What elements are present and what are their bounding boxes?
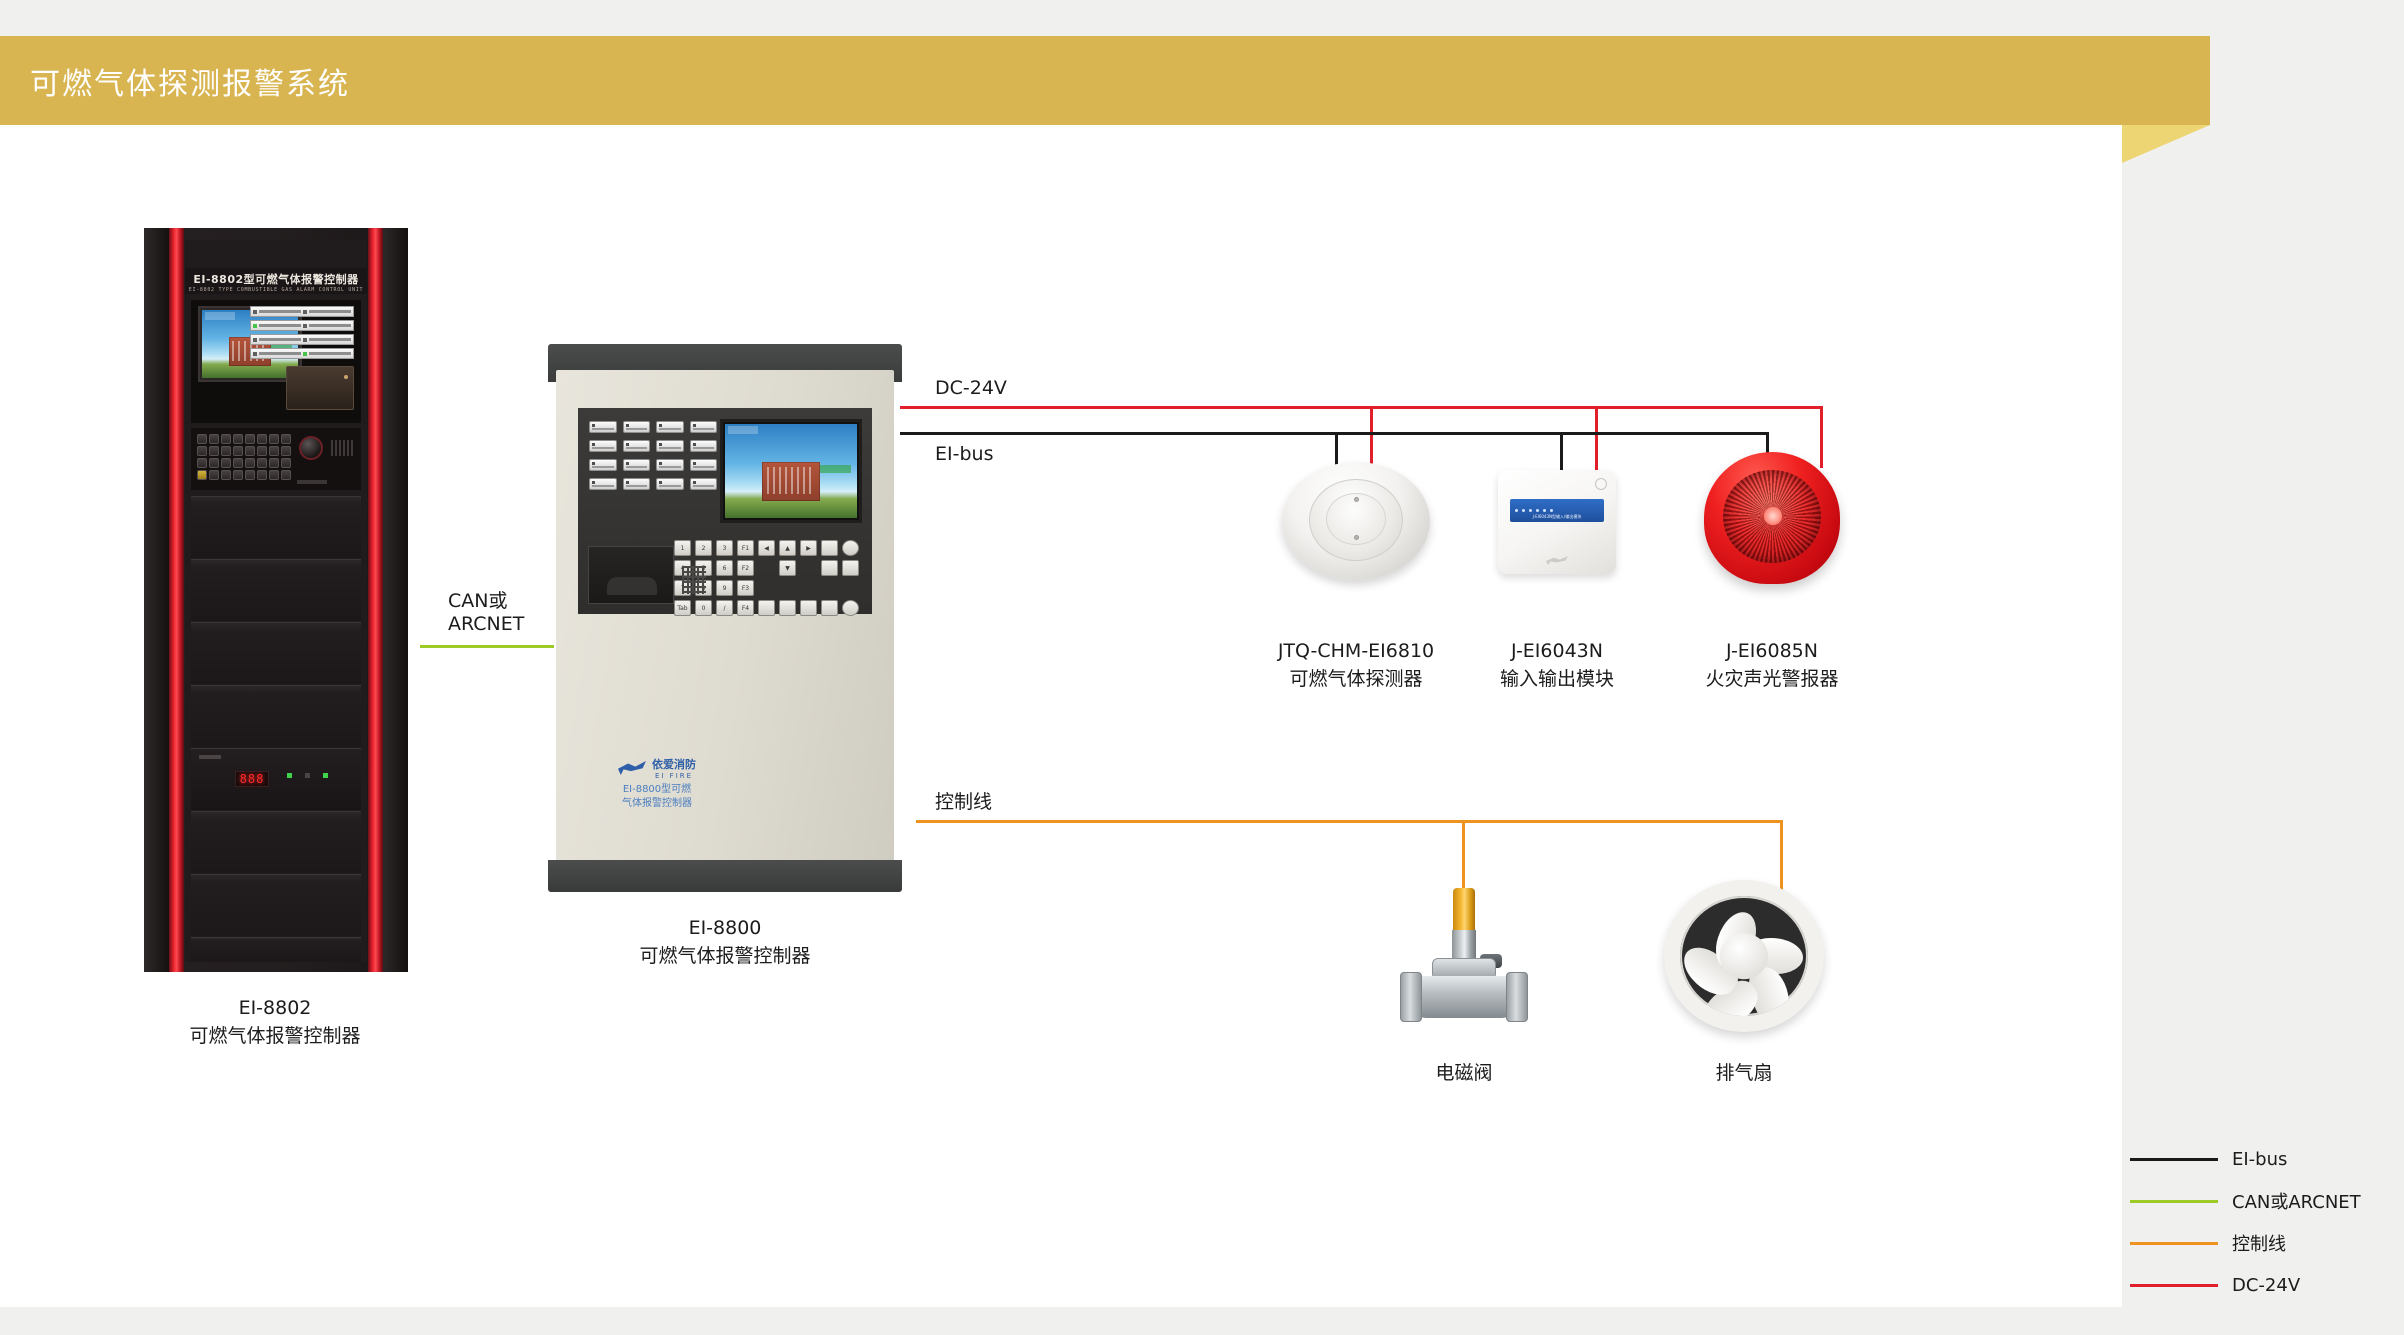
valve-caption: 电磁阀 <box>1314 1060 1614 1088</box>
cabinet-led-bank <box>250 306 354 362</box>
panel-key-func[interactable] <box>821 560 838 576</box>
cabinet-key[interactable] <box>197 458 207 468</box>
cabinet-key[interactable] <box>281 446 291 456</box>
panel-key-func[interactable] <box>800 600 817 616</box>
cabinet-header-cn: EI-8802型可燃气体报警控制器 <box>185 271 367 287</box>
label-can-line1: CAN或 <box>448 586 507 613</box>
legend-label-control: 控制线 <box>2232 1230 2286 1256</box>
led-dot <box>303 324 307 328</box>
led-label <box>309 310 351 313</box>
power-indicator <box>287 773 292 778</box>
ei8802-cabinet: EI-8802型可燃气体报警控制器 EI-8802 TYPE COMBUSTIB… <box>144 228 408 972</box>
led-row <box>250 306 354 317</box>
lcd-logo <box>205 312 235 320</box>
gas-detector-device <box>1282 462 1430 580</box>
panel-key[interactable]: Tab <box>674 600 691 616</box>
panel-key-func[interactable] <box>821 540 838 556</box>
led-label <box>259 310 301 313</box>
cabinet-key[interactable] <box>269 458 279 468</box>
module-led <box>1529 509 1532 512</box>
wire-control-drop-valve <box>1462 820 1465 892</box>
panel-key[interactable]: 2 <box>695 540 712 556</box>
legend-swatch-dc24v <box>2130 1284 2218 1287</box>
module-led <box>1550 509 1553 512</box>
cabinet-sub-display <box>286 366 354 410</box>
cabinet-power-module: 888 <box>191 748 361 810</box>
led-label <box>309 324 351 327</box>
cabinet-key[interactable] <box>245 470 255 480</box>
cabinet-key[interactable] <box>257 458 267 468</box>
cabinet-key[interactable] <box>281 458 291 468</box>
panel-key[interactable]: 0 <box>695 600 712 616</box>
led-row <box>250 320 354 331</box>
panel-led <box>589 440 617 452</box>
cabinet-key[interactable] <box>257 446 267 456</box>
label-eibus: EI-bus <box>935 443 993 465</box>
panel-model-line1: EI-8800型可燃 <box>592 783 722 797</box>
panel-printer[interactable] <box>588 546 674 604</box>
cabinet-slot <box>191 622 361 684</box>
cabinet-slot <box>191 496 361 558</box>
cabinet-key[interactable] <box>269 434 279 444</box>
title-banner: 可燃气体探测报警系统 <box>0 36 2210 125</box>
cabinet-caption-model: EI-8802 <box>110 995 440 1023</box>
panel-key-left[interactable]: ◀ <box>758 540 775 556</box>
cabinet-slot <box>191 559 361 621</box>
panel-led <box>623 478 651 490</box>
legend-label-eibus: EI-bus <box>2232 1149 2287 1170</box>
cabinet-rail-left <box>169 228 184 972</box>
cabinet-key[interactable] <box>197 434 207 444</box>
valve-flange-right <box>1506 972 1528 1022</box>
wire-can-arcnet <box>420 645 554 648</box>
panel-led <box>690 459 718 471</box>
banner-fold-decoration <box>2122 125 2210 163</box>
panel-key[interactable]: / <box>716 600 733 616</box>
panel-key-power[interactable] <box>842 540 859 556</box>
panel-key-func[interactable] <box>842 560 859 576</box>
led-row <box>250 334 354 345</box>
cabinet-key[interactable] <box>197 446 207 456</box>
valve-body <box>1410 976 1518 1018</box>
cabinet-key[interactable] <box>257 470 267 480</box>
valve-coil <box>1453 888 1475 934</box>
sounder-model: J-EI6085N <box>1622 638 1922 666</box>
cabinet-slot <box>191 937 361 962</box>
led-label <box>259 352 301 355</box>
sounder-led-core <box>1764 507 1782 524</box>
cabinet-key[interactable] <box>233 458 243 468</box>
panel-key[interactable]: 3 <box>716 540 733 556</box>
page-title: 可燃气体探测报警系统 <box>30 59 350 103</box>
cabinet-key[interactable] <box>245 446 255 456</box>
module-led <box>1543 509 1546 512</box>
cabinet-side-left <box>144 228 170 972</box>
led-dot <box>303 352 307 356</box>
panel-led <box>656 459 684 471</box>
power-module-tag <box>199 755 221 759</box>
panel-led <box>690 421 718 433</box>
cabinet-key[interactable] <box>209 458 219 468</box>
power-indicator <box>323 773 328 778</box>
panel-bottom-bezel <box>548 860 902 892</box>
module-strip-text: J-EI6043N型输入/输出模块 <box>1510 514 1604 520</box>
panel-lcd-logo <box>728 426 758 434</box>
panel-key[interactable]: F4 <box>737 600 754 616</box>
panel-key-down[interactable]: ▼ <box>779 560 796 576</box>
panel-lcd-image <box>725 424 857 518</box>
wire-dc24v-drop-module <box>1595 406 1598 476</box>
panel-key-func[interactable] <box>821 600 838 616</box>
cabinet-caption: EI-8802 可燃气体报警控制器 <box>110 995 440 1050</box>
cabinet-key[interactable] <box>209 434 219 444</box>
cabinet-front-face: EI-8802型可燃气体报警控制器 EI-8802 TYPE COMBUSTIB… <box>185 240 367 962</box>
ccc-certification-icon <box>1595 478 1607 490</box>
panel-led <box>690 478 718 490</box>
legend-label-can: CAN或ARCNET <box>2232 1188 2361 1214</box>
panel-key-reset[interactable] <box>842 600 859 616</box>
cabinet-keypad-area[interactable] <box>191 428 361 490</box>
solenoid-valve-device <box>1400 888 1528 1020</box>
fan-caption: 排气扇 <box>1594 1060 1894 1088</box>
cabinet-key[interactable] <box>233 470 243 480</box>
wire-dc24v-trunk <box>900 406 1822 409</box>
panel-front-face: 1 2 3 F1 ◀ ▲ ▶ 4 5 6 F2 ▼ <box>578 408 872 614</box>
panel-model-line2: 气体报警控制器 <box>592 797 722 811</box>
panel-key[interactable]: F1 <box>737 540 754 556</box>
label-dc24v: DC-24V <box>935 377 1007 399</box>
legend-swatch-can <box>2130 1200 2218 1203</box>
cabinet-header-en: EI-8802 TYPE COMBUSTIBLE GAS ALARM CONTR… <box>185 287 367 293</box>
panel-brand-en: EI FIRE <box>652 772 696 780</box>
panel-led <box>623 421 651 433</box>
panel-key-up[interactable]: ▲ <box>779 540 796 556</box>
cabinet-key[interactable] <box>233 446 243 456</box>
cabinet-key[interactable] <box>281 434 291 444</box>
cabinet-header-plate: EI-8802型可燃气体报警控制器 EI-8802 TYPE COMBUSTIB… <box>185 268 367 294</box>
sounder-name: 火灾声光警报器 <box>1622 666 1922 694</box>
led-label <box>309 338 351 341</box>
legend-swatch-eibus <box>2130 1158 2218 1161</box>
cabinet-key[interactable] <box>221 446 231 456</box>
panel-key-func[interactable] <box>758 600 775 616</box>
led-dot <box>303 338 307 342</box>
cabinet-key[interactable] <box>221 458 231 468</box>
panel-lcd-building <box>762 462 820 501</box>
panel-led <box>690 440 718 452</box>
cabinet-slot <box>191 874 361 936</box>
legend: EI-bus CAN或ARCNET 控制线 DC-24V <box>2130 1138 2380 1306</box>
panel-key[interactable]: 6 <box>716 560 733 576</box>
panel-led-row <box>589 459 717 471</box>
panel-lcd-green-text <box>817 465 851 473</box>
panel-led <box>656 421 684 433</box>
panel-caption-model: EI-8800 <box>560 915 890 943</box>
cabinet-key[interactable] <box>209 470 219 480</box>
cabinet-side-right <box>382 228 408 972</box>
legend-swatch-control <box>2130 1242 2218 1245</box>
cabinet-key[interactable] <box>209 446 219 456</box>
module-led <box>1515 509 1518 512</box>
panel-caption-name: 可燃气体报警控制器 <box>560 943 890 971</box>
ei-fire-logo-icon <box>1546 556 1568 565</box>
panel-led <box>589 459 617 471</box>
panel-led <box>623 440 651 452</box>
label-control-line: 控制线 <box>935 787 992 814</box>
panel-branding: 依爱消防 EI FIRE EI-8800型可燃 气体报警控制器 <box>592 756 722 810</box>
module-led <box>1536 509 1539 512</box>
panel-led <box>656 478 684 490</box>
top-gray-strip <box>0 0 2404 36</box>
module-led <box>1522 509 1525 512</box>
voltage-display: 888 <box>235 771 269 787</box>
exhaust-fan-device <box>1664 880 1824 1032</box>
panel-brand-row: 依爱消防 EI FIRE <box>592 756 722 780</box>
valve-flange-left <box>1400 972 1422 1022</box>
panel-led <box>589 478 617 490</box>
panel-key[interactable]: F3 <box>737 580 754 596</box>
cabinet-rotary-knob[interactable] <box>299 436 323 460</box>
cabinet-caption-name: 可燃气体报警控制器 <box>110 1023 440 1051</box>
panel-led <box>589 421 617 433</box>
cabinet-control-panel <box>191 300 361 423</box>
led-label <box>259 324 301 327</box>
panel-led <box>656 440 684 452</box>
led-row <box>250 348 354 359</box>
cabinet-key[interactable] <box>221 434 231 444</box>
panel-key[interactable]: F2 <box>737 560 754 576</box>
led-dot <box>253 310 257 314</box>
cabinet-rail-right <box>368 228 383 972</box>
sounder-caption: J-EI6085N 火灾声光警报器 <box>1622 638 1922 693</box>
module-label-strip: J-EI6043N型输入/输出模块 <box>1510 499 1604 522</box>
ei8800-wall-panel: 1 2 3 F1 ◀ ▲ ▶ 4 5 6 F2 ▼ <box>548 344 902 892</box>
panel-led-bank <box>589 421 717 497</box>
sounder-beacon-device <box>1704 452 1840 584</box>
panel-key-func[interactable] <box>779 600 796 616</box>
legend-item-can: CAN或ARCNET <box>2130 1180 2380 1222</box>
cabinet-key[interactable] <box>257 434 267 444</box>
panel-key-right[interactable]: ▶ <box>800 540 817 556</box>
panel-brand-cn: 依爱消防 <box>652 756 696 772</box>
panel-led-row <box>589 478 717 490</box>
lcd-ground <box>202 364 298 378</box>
cabinet-key[interactable] <box>221 470 231 480</box>
cabinet-key[interactable] <box>281 470 291 480</box>
legend-item-dc24v: DC-24V <box>2130 1264 2380 1306</box>
panel-key[interactable]: 1 <box>674 540 691 556</box>
cabinet-speaker-grille <box>331 440 355 456</box>
fan-name: 排气扇 <box>1594 1060 1894 1088</box>
cabinet-keypad[interactable] <box>197 434 299 480</box>
panel-led-row <box>589 440 717 452</box>
power-indicator <box>305 773 310 778</box>
panel-lcd-screen[interactable] <box>720 419 862 523</box>
panel-key[interactable]: 9 <box>716 580 733 596</box>
label-can-line2: ARCNET <box>448 613 524 635</box>
panel-speaker-grille <box>682 566 706 594</box>
panel-led <box>623 459 651 471</box>
wire-control-trunk <box>916 820 1782 823</box>
cabinet-key[interactable] <box>269 446 279 456</box>
legend-item-eibus: EI-bus <box>2130 1138 2380 1180</box>
io-module-device: J-EI6043N型输入/输出模块 <box>1498 470 1616 574</box>
legend-item-control: 控制线 <box>2130 1222 2380 1264</box>
page-root: 可燃气体探测报警系统 EI-8802型可燃气体报警控制器 EI-8802 TYP… <box>0 0 2404 1335</box>
cabinet-slot <box>191 685 361 747</box>
cabinet-mini-control[interactable] <box>297 480 327 484</box>
panel-led-row <box>589 421 717 433</box>
legend-label-dc24v: DC-24V <box>2232 1275 2300 1296</box>
cabinet-key[interactable] <box>245 434 255 444</box>
ei-fire-logo-icon <box>618 761 646 775</box>
led-dot <box>253 338 257 342</box>
led-label <box>309 352 351 355</box>
panel-body: 1 2 3 F1 ◀ ▲ ▶ 4 5 6 F2 ▼ <box>556 370 894 872</box>
cabinet-key-alarm[interactable] <box>197 470 207 480</box>
cabinet-key[interactable] <box>233 434 243 444</box>
cabinet-key[interactable] <box>245 458 255 468</box>
cabinet-slot <box>191 811 361 873</box>
power-indicator-group <box>287 773 328 778</box>
led-label <box>259 338 301 341</box>
cabinet-key[interactable] <box>269 470 279 480</box>
module-body: J-EI6043N型输入/输出模块 <box>1498 470 1616 574</box>
panel-caption: EI-8800 可燃气体报警控制器 <box>560 915 890 970</box>
led-dot <box>253 324 257 328</box>
valve-name: 电磁阀 <box>1314 1060 1614 1088</box>
fan-hub <box>1720 933 1768 979</box>
led-dot <box>253 352 257 356</box>
wire-eibus-trunk <box>900 432 1766 435</box>
led-dot <box>303 310 307 314</box>
panel-lcd-ground <box>725 499 857 518</box>
